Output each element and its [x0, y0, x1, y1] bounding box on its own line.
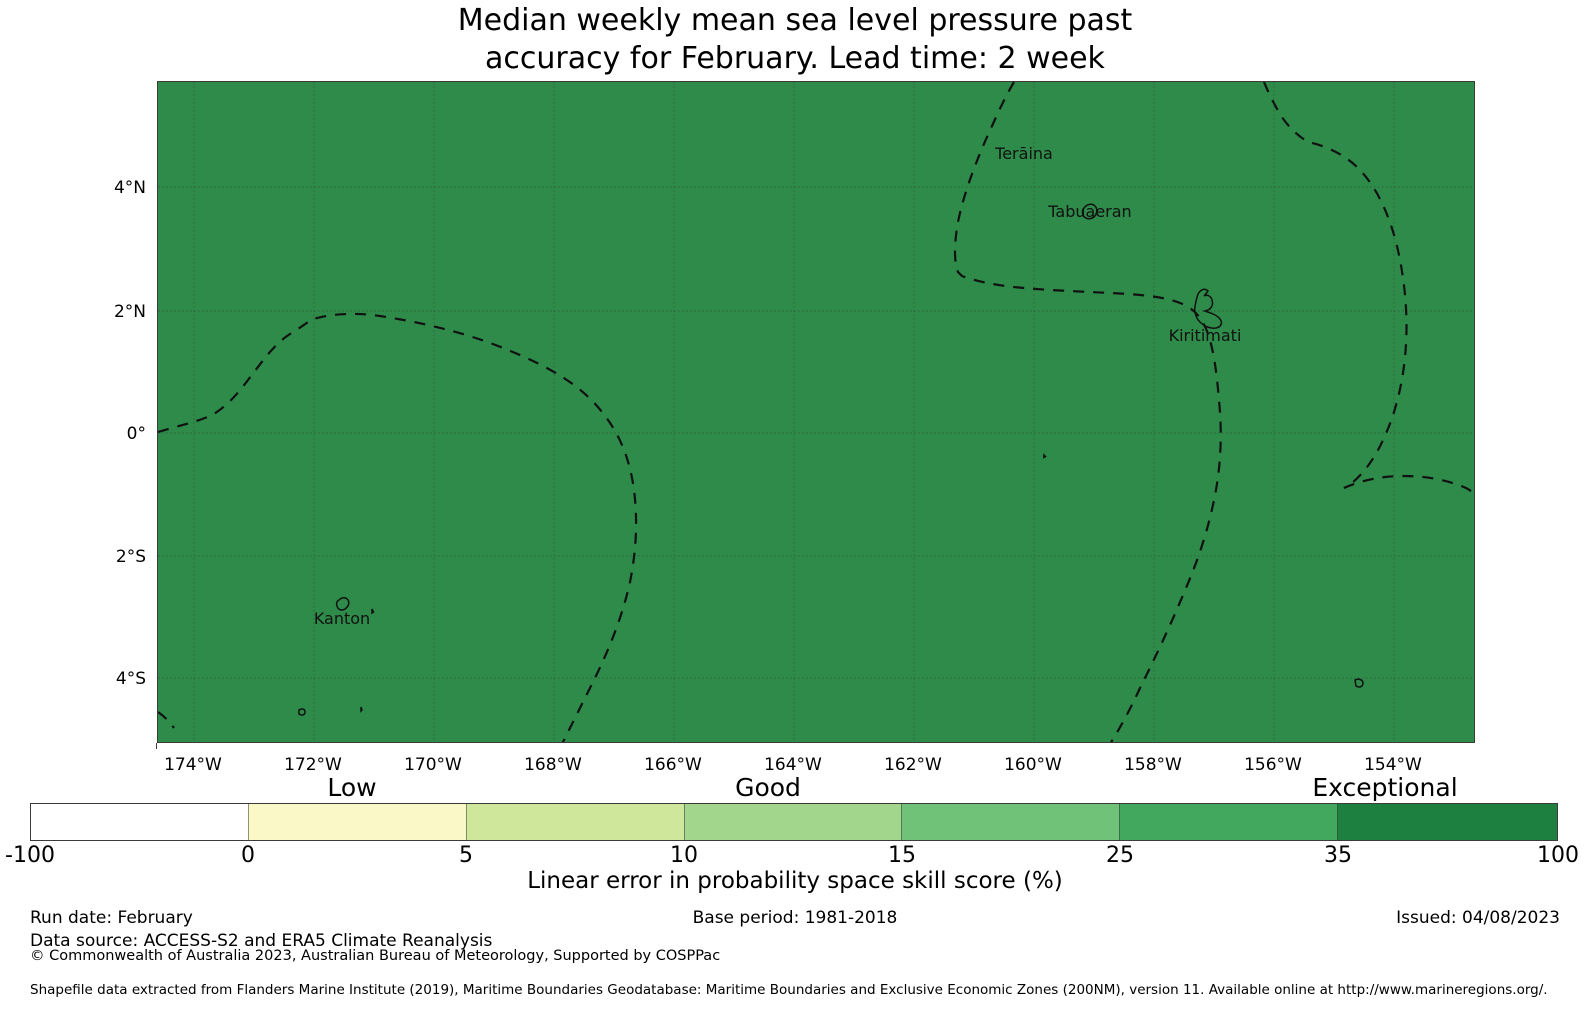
- y-axis-tick-4: 4°S: [56, 669, 146, 689]
- colorbar-segment-2: [466, 804, 684, 840]
- colorbar-tick-1: 0: [188, 843, 308, 868]
- colorbar-segment-6: [1337, 804, 1557, 840]
- colorbar-tick-3: 10: [624, 843, 744, 868]
- colorbar-tick-7: 100: [1498, 843, 1590, 868]
- map-graphics: Terāina Tabuaeran Kiritimati Kanton: [158, 82, 1475, 743]
- x-axis-tick-10: 154°W: [1333, 755, 1453, 775]
- page-title: Median weekly mean sea level pressure pa…: [0, 2, 1590, 78]
- x-axis-tick-1: 172°W: [253, 755, 373, 775]
- island-label-kiritimati: Kiritimati: [1169, 326, 1242, 345]
- colorbar-segment-4: [901, 804, 1119, 840]
- y-axis-tick-3: 2°S: [56, 547, 146, 567]
- y-axis-tick-1: 2°N: [56, 302, 146, 322]
- colorbar-segment-0: [31, 804, 248, 840]
- footer-base-period: Base period: 1981-2018: [0, 908, 1590, 928]
- island-label-tabuaeran: Tabuaeran: [1047, 202, 1131, 221]
- island-label-teraina: Terāina: [994, 144, 1053, 163]
- colorbar: [30, 803, 1558, 841]
- x-axis-tick-5: 164°W: [733, 755, 853, 775]
- colorbar-segment-1: [248, 804, 466, 840]
- x-axis-tick-8: 158°W: [1093, 755, 1213, 775]
- colorbar-segment-5: [1119, 804, 1337, 840]
- category-label-low: Low: [252, 773, 452, 802]
- colorbar-tick-4: 15: [842, 843, 962, 868]
- footer-shapefile-attribution: Shapefile data extracted from Flanders M…: [30, 982, 1548, 998]
- map-plot-area: Terāina Tabuaeran Kiritimati Kanton: [157, 81, 1475, 743]
- colorbar-tick-0: -100: [0, 843, 90, 868]
- x-axis-tick-7: 160°W: [973, 755, 1093, 775]
- x-axis-tick-0: 174°W: [133, 755, 253, 775]
- y-axis-tick-0: 4°N: [56, 178, 146, 198]
- category-label-good: Good: [668, 773, 868, 802]
- x-axis-tick-6: 162°W: [853, 755, 973, 775]
- island-label-kanton: Kanton: [314, 609, 370, 628]
- footer-copyright: © Commonwealth of Australia 2023, Austra…: [30, 948, 720, 964]
- x-axis-tick-3: 168°W: [493, 755, 613, 775]
- colorbar-tick-2: 5: [406, 843, 526, 868]
- category-label-exceptional: Exceptional: [1265, 773, 1505, 802]
- colorbar-axis-label: Linear error in probability space skill …: [0, 868, 1590, 894]
- x-axis-tick-9: 156°W: [1213, 755, 1333, 775]
- skill-score-fill: [158, 82, 1475, 743]
- y-tick-mark: [156, 743, 157, 749]
- x-axis-tick-4: 166°W: [613, 755, 733, 775]
- x-axis-tick-2: 170°W: [373, 755, 493, 775]
- y-axis-tick-2: 0°: [56, 424, 146, 444]
- colorbar-tick-6: 35: [1278, 843, 1398, 868]
- colorbar-segment-3: [684, 804, 902, 840]
- footer-issued-date: Issued: 04/08/2023: [1396, 908, 1560, 928]
- colorbar-tick-5: 25: [1060, 843, 1180, 868]
- colorbar-gradient: [30, 803, 1558, 841]
